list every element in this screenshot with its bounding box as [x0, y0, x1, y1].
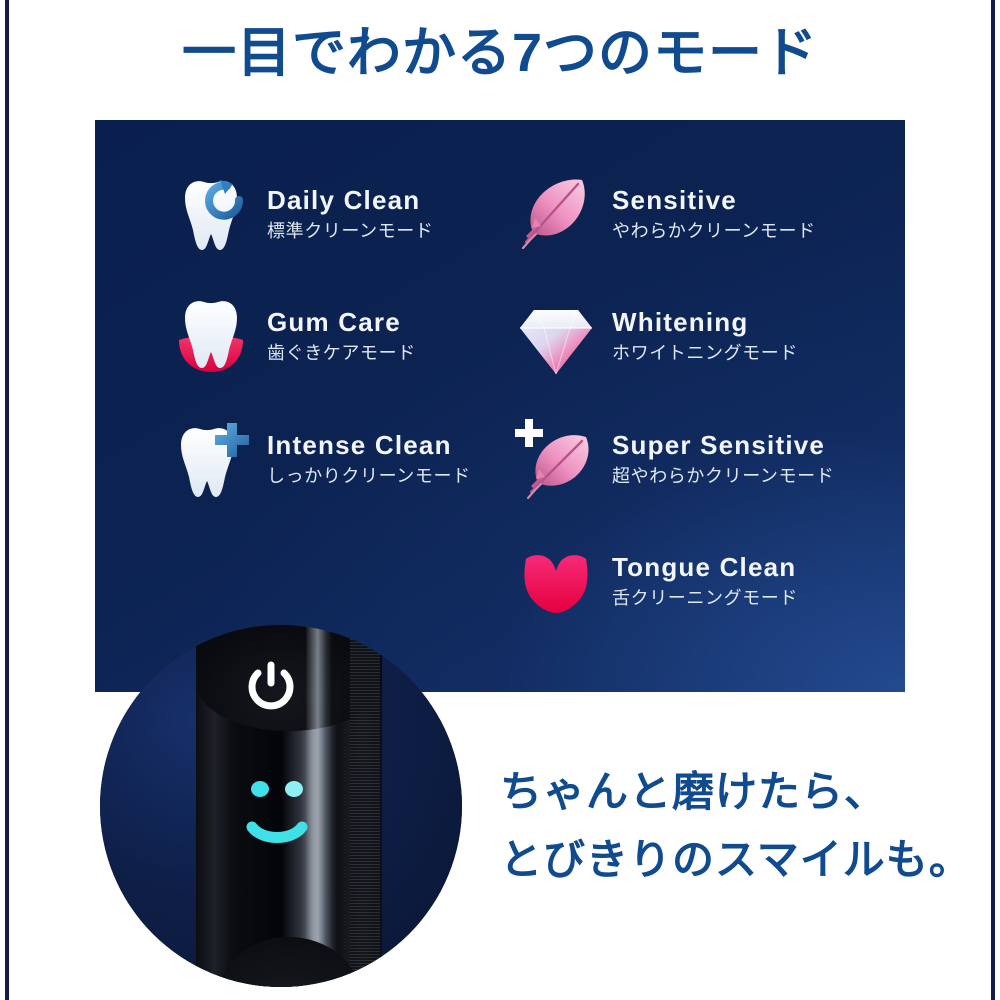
mode-text: Tongue Clean 舌クリーニングモード [612, 552, 798, 611]
handle-grip-texture [350, 625, 380, 987]
diamond-icon [510, 290, 602, 382]
mode-name: Tongue Clean [612, 552, 798, 582]
mode-item-tongue-clean[interactable]: Tongue Clean 舌クリーニングモード [510, 535, 798, 627]
tooth-refresh-icon [165, 168, 257, 260]
page-title: 一目でわかる7つのモード [0, 20, 1000, 86]
mode-item-whitening[interactable]: Whitening ホワイトニングモード [510, 290, 798, 382]
mode-sub: やわらかクリーンモード [612, 218, 816, 244]
mode-item-super-sensitive[interactable]: Super Sensitive 超やわらかクリーンモード [510, 413, 834, 505]
mode-name: Gum Care [267, 307, 416, 337]
smiley-face-icon [230, 767, 326, 863]
mode-sub: 歯ぐきケアモード [267, 340, 416, 366]
mode-text: Gum Care 歯ぐきケアモード [267, 307, 416, 366]
feather-icon [510, 168, 602, 260]
feather-plus-icon [510, 413, 602, 505]
mode-item-sensitive[interactable]: Sensitive やわらかクリーンモード [510, 168, 816, 260]
tooth-plus-icon [165, 413, 257, 505]
mode-text: Intense Clean しっかりクリーンモード [267, 430, 471, 489]
bottom-caption: ちゃんと磨けたら、 とびきりのスマイルも。 [500, 758, 972, 894]
mode-name: Intense Clean [267, 430, 471, 460]
page-border-right [991, 0, 995, 1000]
mode-name: Super Sensitive [612, 430, 834, 460]
tooth-gum-icon [165, 290, 257, 382]
mode-item-intense-clean[interactable]: Intense Clean しっかりクリーンモード [165, 413, 471, 505]
mode-sub: ホワイトニングモード [612, 340, 798, 366]
mode-sub: しっかりクリーンモード [267, 463, 471, 489]
mode-item-daily-clean[interactable]: Daily Clean 標準クリーンモード [165, 168, 434, 260]
mode-name: Sensitive [612, 185, 816, 215]
power-icon [240, 657, 302, 719]
caption-line-1: ちゃんと磨けたら、 [500, 758, 972, 826]
mode-text: Whitening ホワイトニングモード [612, 307, 798, 366]
mode-sub: 舌クリーニングモード [612, 585, 798, 611]
mode-name: Whitening [612, 307, 798, 337]
mode-text: Super Sensitive 超やわらかクリーンモード [612, 430, 834, 489]
modes-panel: Daily Clean 標準クリーンモード [95, 120, 905, 692]
mode-item-gum-care[interactable]: Gum Care 歯ぐきケアモード [165, 290, 416, 382]
product-photo-circle [100, 625, 462, 987]
mode-name: Daily Clean [267, 185, 434, 215]
mode-sub: 超やわらかクリーンモード [612, 463, 834, 489]
tongue-icon [510, 535, 602, 627]
caption-line-2: とびきりのスマイルも。 [500, 826, 972, 894]
modes-grid: Daily Clean 標準クリーンモード [95, 120, 905, 692]
page-border-left [5, 0, 9, 1000]
mode-text: Daily Clean 標準クリーンモード [267, 185, 434, 244]
mode-sub: 標準クリーンモード [267, 218, 434, 244]
mode-text: Sensitive やわらかクリーンモード [612, 185, 816, 244]
